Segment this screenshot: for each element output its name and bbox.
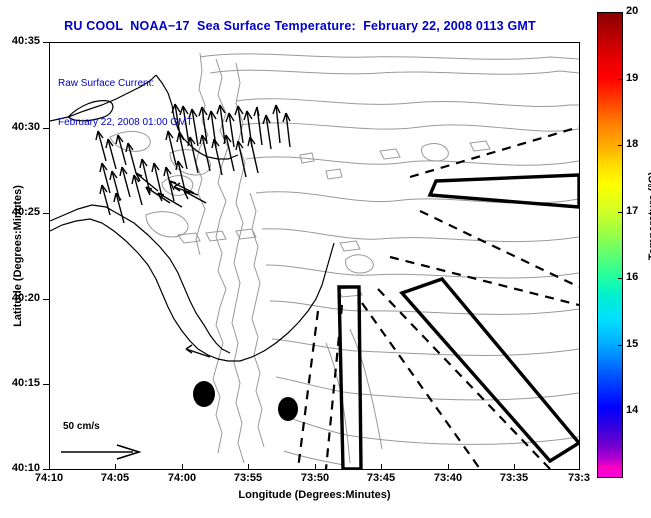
y-tick bbox=[43, 128, 49, 129]
y-tick-label: 40:10 bbox=[0, 462, 40, 474]
colorbar-tick bbox=[618, 212, 623, 213]
colorbar-tick-label: 16 bbox=[626, 271, 638, 283]
x-tick-label: 74:00 bbox=[152, 472, 212, 484]
y-tick bbox=[43, 213, 49, 214]
x-tick-label: 73:50 bbox=[285, 472, 345, 484]
colorbar-tick-label: 15 bbox=[626, 338, 638, 350]
x-tick bbox=[115, 464, 116, 470]
colorbar-tick bbox=[618, 345, 623, 346]
x-tick bbox=[49, 464, 50, 470]
x-tick-label: 73:55 bbox=[218, 472, 278, 484]
sst-map-figure: RU COOL NOAA−17 Sea Surface Temperature:… bbox=[0, 0, 651, 518]
colorbar-tick-label: 14 bbox=[626, 404, 638, 416]
annotation-line-1: Raw Surface Current: bbox=[58, 77, 193, 90]
colorbar-gradient bbox=[598, 13, 622, 477]
scale-arrow-icon bbox=[59, 443, 159, 461]
x-tick bbox=[315, 464, 316, 470]
y-tick bbox=[43, 384, 49, 385]
x-tick-label: 73:40 bbox=[418, 472, 478, 484]
figure-title: RU COOL NOAA−17 Sea Surface Temperature:… bbox=[0, 19, 600, 33]
x-tick bbox=[248, 464, 249, 470]
x-tick bbox=[579, 464, 580, 470]
colorbar-tick-label: 19 bbox=[626, 72, 638, 84]
x-tick-label: 73:45 bbox=[351, 472, 411, 484]
x-tick bbox=[381, 464, 382, 470]
colorbar-tick-label: 18 bbox=[626, 138, 638, 150]
colorbar-tick-label: 17 bbox=[626, 205, 638, 217]
x-tick-label: 73:35 bbox=[484, 472, 544, 484]
x-axis-label: Longitude (Degrees:Minutes) bbox=[49, 489, 580, 501]
colorbar-tick bbox=[618, 79, 623, 80]
annotation-line-2: February 22, 2008 01:00 GMT bbox=[58, 116, 193, 129]
map-plot-area: Raw Surface Current: February 22, 2008 0… bbox=[49, 42, 580, 470]
scale-legend-label: 50 cm/s bbox=[63, 421, 100, 432]
x-tick-label: 74:05 bbox=[85, 472, 145, 484]
x-tick bbox=[448, 464, 449, 470]
y-tick-label: 40:30 bbox=[0, 121, 40, 133]
y-tick-label: 40:15 bbox=[0, 377, 40, 389]
y-axis-label: Latitude (Degrees:Minutes) bbox=[12, 156, 24, 356]
y-tick bbox=[43, 469, 49, 470]
y-tick bbox=[43, 42, 49, 43]
colorbar-tick bbox=[618, 411, 623, 412]
colorbar bbox=[597, 12, 623, 478]
scale-legend: 50 cm/s bbox=[53, 421, 168, 467]
colorbar-tick bbox=[618, 145, 623, 146]
colorbar-tick-label: 20 bbox=[626, 5, 638, 17]
x-tick bbox=[514, 464, 515, 470]
station-markers bbox=[193, 381, 298, 421]
current-annotation: Raw Surface Current: February 22, 2008 0… bbox=[58, 51, 193, 155]
colorbar-tick bbox=[618, 12, 623, 13]
x-tick bbox=[182, 464, 183, 470]
colorbar-label: Temperature (°C) bbox=[647, 136, 651, 296]
y-tick-label: 40:35 bbox=[0, 35, 40, 47]
y-tick bbox=[43, 299, 49, 300]
colorbar-tick bbox=[618, 278, 623, 279]
